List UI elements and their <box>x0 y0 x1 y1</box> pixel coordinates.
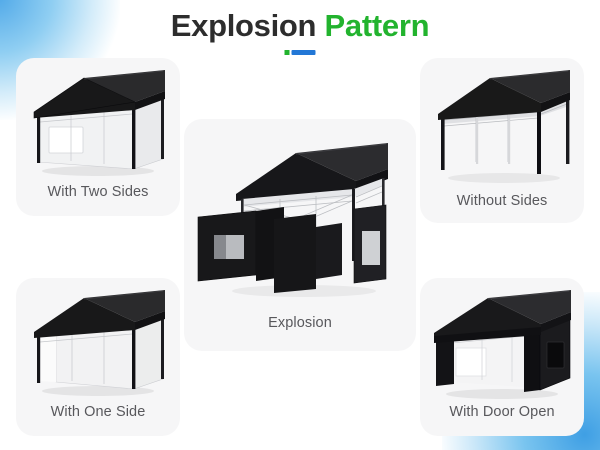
card-caption-two-sides: With Two Sides <box>16 184 180 200</box>
accent-dot-icon <box>285 50 290 55</box>
card-with-one-side[interactable]: With One Side <box>16 278 180 436</box>
card-caption-one-side: With One Side <box>16 404 180 420</box>
tent-illustration-one-side <box>16 278 180 408</box>
page-title-part-1: Explosion <box>171 8 316 43</box>
page-title: Explosion Pattern <box>0 8 600 44</box>
card-caption-door-open: With Door Open <box>420 404 584 420</box>
card-caption-without-sides: Without Sides <box>420 193 584 209</box>
panel-middle <box>274 214 316 293</box>
card-explosion[interactable]: Explosion <box>184 119 416 351</box>
title-accent-underline <box>285 50 316 55</box>
panel-middle-right <box>316 223 342 279</box>
tent-illustration-two-sides <box>16 58 180 188</box>
card-without-sides[interactable]: Without Sides <box>420 58 584 223</box>
card-with-two-sides[interactable]: With Two Sides <box>16 58 180 216</box>
explosion-pattern-page: Explosion Pattern <box>0 0 600 450</box>
accent-bar-icon <box>292 50 316 55</box>
panel-right-window <box>354 205 386 283</box>
panel-left-window <box>198 211 256 281</box>
card-caption-explosion: Explosion <box>184 315 416 331</box>
tent-illustration-door-open <box>420 278 584 408</box>
card-with-door-open[interactable]: With Door Open <box>420 278 584 436</box>
page-title-part-2: Pattern <box>325 8 430 43</box>
tent-illustration-explosion <box>184 119 416 315</box>
tent-illustration-without-sides <box>420 58 584 194</box>
